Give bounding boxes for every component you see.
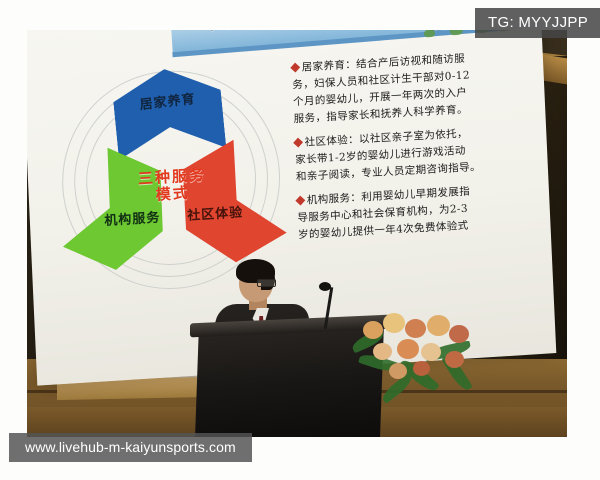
conference-photo: ，探索“南京模式” 居家养育 机构服务 社区体验 三种服务 模式 xyxy=(27,30,567,437)
diamond-bullet-icon xyxy=(295,196,305,206)
microphone-head xyxy=(319,282,331,291)
floral-arrangement xyxy=(345,299,493,411)
diagram-center-label: 三种服务 模式 xyxy=(118,150,227,223)
site-url-watermark: www.livehub-m-kaiyunsports.com xyxy=(9,433,252,462)
telegram-watermark-badge: TG: MYYJJPP xyxy=(475,8,600,38)
bullet-item-institution-service: 机构服务：利用婴幼儿早期发展指 导服务中心和社会保育机构，为2-3 岁的婴幼儿提… xyxy=(297,180,531,244)
slide-bullet-list: 居家养育：结合产后访视和随访服 务，妇保人员和社区计生干部对0-12 个月的婴幼… xyxy=(291,47,530,251)
diamond-bullet-icon xyxy=(293,138,303,148)
bullet-item-community-experience: 社区体验：以社区亲子室为依托， 家长带1-2岁的婴幼儿进行游戏活动 和亲子阅读，… xyxy=(294,122,528,186)
diagram-center-line-2: 模式 xyxy=(155,185,190,204)
bullet-item-home-care: 居家养育：结合产后访视和随访服 务，妇保人员和社区计生干部对0-12 个月的婴幼… xyxy=(291,47,525,128)
speaker-glasses xyxy=(257,279,276,287)
screenshot-canvas: ，探索“南京模式” 居家养育 机构服务 社区体验 三种服务 模式 xyxy=(0,0,600,480)
diamond-bullet-icon xyxy=(290,63,300,73)
